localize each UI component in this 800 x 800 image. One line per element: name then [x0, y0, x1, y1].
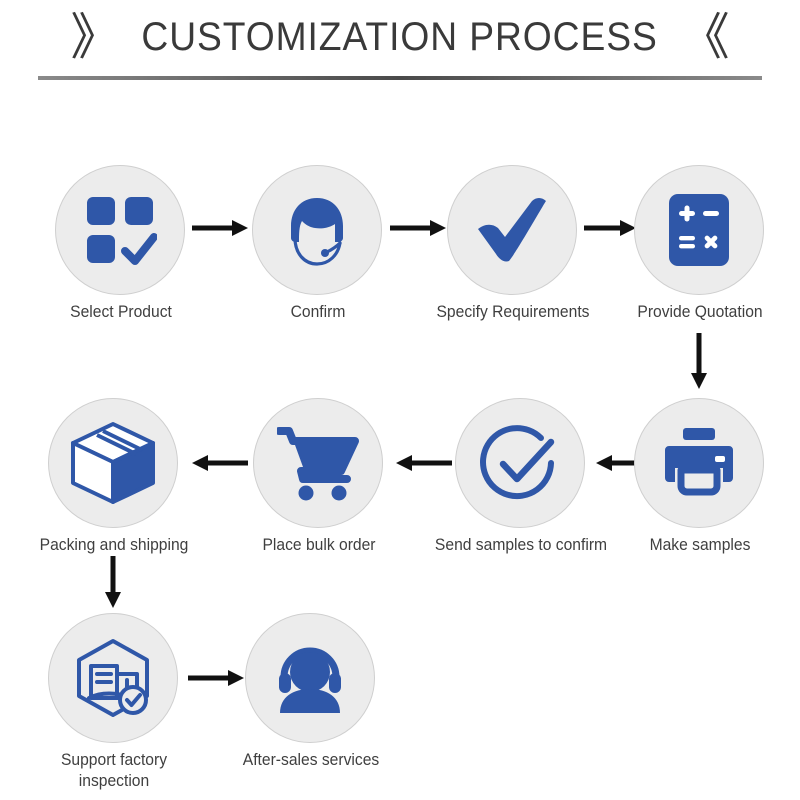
checkmark-icon	[472, 193, 552, 267]
step-label: Send samples to confirm	[418, 534, 624, 555]
step-icon-circle	[252, 165, 382, 295]
chevron-right-icon: 《	[680, 12, 730, 62]
step-icon-circle	[634, 165, 764, 295]
step-icon-circle	[455, 398, 585, 528]
step-label: Select Product	[18, 301, 224, 322]
arrow-right-2	[390, 218, 446, 238]
step-label: Support factory inspection	[11, 749, 217, 791]
step-icon-circle	[245, 613, 375, 743]
step-icon-circle	[48, 613, 178, 743]
arrow-right-1	[192, 218, 248, 238]
step-label: Place bulk order	[216, 534, 422, 555]
step-after-sales-services[interactable]: After-sales services	[245, 613, 377, 743]
step-send-samples-to-confirm[interactable]: Send samples to confirm	[455, 398, 587, 528]
operator-headset-icon	[277, 190, 357, 270]
arrow-right-3	[584, 218, 636, 238]
step-label: Packing and shipping	[11, 534, 217, 555]
step-label: Make samples	[597, 534, 800, 555]
down-arrow-row1-to-row2	[688, 333, 710, 389]
title-divider	[38, 76, 762, 80]
arrow-right-4	[188, 668, 244, 688]
step-label: After-sales services	[208, 749, 414, 770]
step-icon-circle	[48, 398, 178, 528]
step-packing-and-shipping[interactable]: Packing and shipping	[48, 398, 180, 528]
arrow-left-1	[190, 453, 248, 473]
step-specify-requirements[interactable]: Specify Requirements	[447, 165, 579, 295]
step-icon-circle	[55, 165, 185, 295]
step-icon-circle	[253, 398, 383, 528]
step-support-factory-inspection[interactable]: Support factory inspection	[48, 613, 180, 743]
down-arrow-row2-to-row3	[102, 556, 124, 608]
step-place-bulk-order[interactable]: Place bulk order	[253, 398, 385, 528]
step-select-product[interactable]: Select Product	[55, 165, 187, 295]
step-icon-circle	[447, 165, 577, 295]
printer-icon	[659, 426, 739, 500]
step-provide-quotation[interactable]: Provide Quotation	[634, 165, 766, 295]
title-row: 》 CUSTOMIZATION PROCESS 《	[0, 6, 800, 68]
page-header: 》 CUSTOMIZATION PROCESS 《	[0, 0, 800, 100]
step-label: Confirm	[215, 301, 421, 322]
shopping-cart-icon	[277, 425, 359, 501]
arrow-left-2	[394, 453, 452, 473]
page-title: CUSTOMIZATION PROCESS	[140, 14, 660, 60]
package-box-icon	[70, 421, 156, 505]
headphones-person-icon	[270, 641, 350, 715]
step-icon-circle	[634, 398, 764, 528]
factory-inspection-icon	[71, 638, 155, 718]
chevron-left-icon: 》	[70, 12, 120, 62]
step-label: Provide Quotation	[597, 301, 800, 322]
step-label: Specify Requirements	[410, 301, 616, 322]
grid-check-icon	[83, 193, 157, 267]
step-make-samples[interactable]: Make samples	[634, 398, 766, 528]
calculator-icon	[664, 191, 734, 269]
circle-check-icon	[479, 422, 561, 504]
step-confirm[interactable]: Confirm	[252, 165, 384, 295]
